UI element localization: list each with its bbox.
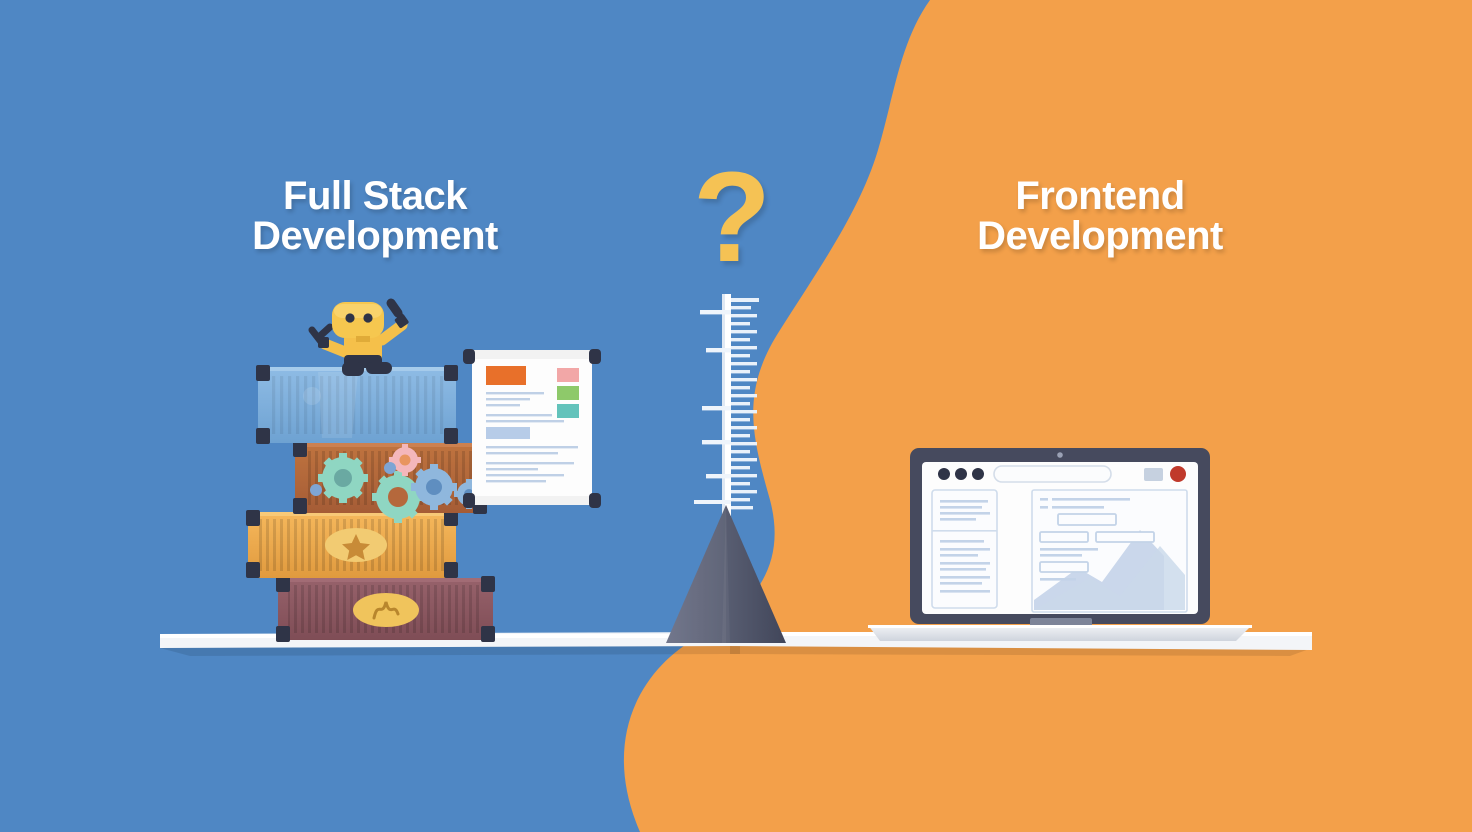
ruler-minor-ticks (731, 298, 759, 509)
traffic-dot-3 (972, 468, 984, 480)
robot-leg-left (342, 362, 364, 376)
container-top-blue (256, 365, 458, 444)
fulcrum-triangle (666, 505, 786, 643)
poster-roller-bottom (468, 496, 596, 505)
robot-figure (312, 302, 409, 376)
fulcrum-left-face (666, 505, 726, 643)
poster-swatch-pink (557, 368, 579, 382)
container-badge-squiggle (353, 593, 419, 627)
container-top-mark (303, 387, 321, 405)
traffic-dot-2 (955, 468, 967, 480)
container-star-orange (246, 510, 458, 578)
illustration-canvas: Full Stack Development Frontend Developm… (0, 0, 1472, 832)
spec-poster (463, 349, 601, 508)
container-gears-brown (293, 441, 487, 523)
container-top-sheen (318, 372, 358, 438)
poster-swatch-green (557, 386, 579, 400)
poster-roller-top (468, 350, 596, 359)
content-block-4 (1040, 562, 1088, 572)
gear-dot-b (310, 484, 322, 496)
robot-eye-left (345, 313, 354, 322)
container-bottom-maroon (276, 576, 495, 642)
gear-dot-a (384, 462, 396, 474)
poster-highlight-block (486, 427, 530, 439)
content-block-3 (1096, 532, 1154, 542)
browser-address-bar (994, 466, 1111, 482)
content-block-2 (1040, 532, 1088, 542)
measuring-ruler (694, 294, 759, 516)
laptop-camera (1057, 452, 1063, 458)
poster-header-block (486, 366, 526, 385)
question-mark-icon: ? (672, 154, 792, 284)
page-title-right: Frontend Development (915, 176, 1285, 256)
robot-eye-right (363, 313, 372, 322)
content-block-1 (1058, 514, 1116, 525)
scene-artwork (0, 0, 1472, 832)
poster-swatch-teal (557, 404, 579, 418)
browser-sidebar (932, 490, 997, 608)
traffic-dot-1 (938, 468, 950, 480)
laptop (868, 448, 1252, 641)
browser-content (1032, 490, 1187, 612)
browser-button-gray (1144, 468, 1163, 481)
page-title-left: Full Stack Development (190, 176, 560, 256)
browser-button-red (1170, 466, 1186, 482)
robot-leg-right (366, 362, 392, 374)
